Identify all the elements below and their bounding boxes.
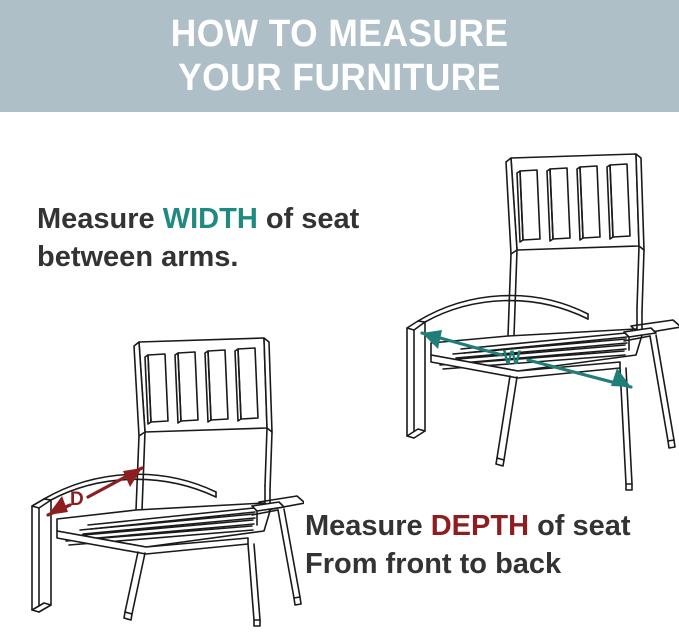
depth-dimension-arrow: D <box>48 468 142 515</box>
infographic-page: HOW TO MEASURE YOUR FURNITURE Measure WI… <box>0 0 679 642</box>
depth-caption-line-2: From front to back <box>305 545 631 583</box>
width-caption-line-2: between arms. <box>37 238 359 276</box>
width-caption-text-a: Measure <box>37 203 163 235</box>
chair-back-frame <box>134 338 272 436</box>
width-caption-text-b: of seat <box>258 203 360 235</box>
header-title-line-1: HOW TO MEASURE <box>171 12 509 56</box>
chair-illustration-width: W <box>398 136 679 506</box>
width-caption-line-1: Measure WIDTH of seat <box>37 200 359 238</box>
header-banner: HOW TO MEASURE YOUR FURNITURE <box>0 0 679 112</box>
depth-arrow-head-upper-right <box>123 468 142 487</box>
chair-back-posts <box>136 428 272 510</box>
chair-seat <box>431 329 642 378</box>
width-keyword: WIDTH <box>163 203 258 235</box>
depth-keyword: DEPTH <box>431 510 529 542</box>
width-dimension-label: W <box>503 348 521 369</box>
chair-seat <box>57 503 270 554</box>
chair-back-posts <box>508 246 644 336</box>
depth-caption: Measure DEPTH of seat From front to back <box>305 507 631 583</box>
header-title-line-2: YOUR FURNITURE <box>178 56 501 100</box>
depth-dimension-label: D <box>70 489 84 510</box>
chair-back-frame <box>506 154 644 254</box>
chair-illustration-depth: D <box>22 320 304 640</box>
depth-caption-line-1: Measure DEPTH of seat <box>305 507 631 545</box>
width-caption: Measure WIDTH of seat between arms. <box>37 200 359 276</box>
width-arrow-head-right <box>611 368 631 387</box>
depth-caption-text-b: of seat <box>529 510 631 542</box>
depth-caption-text-a: Measure <box>305 510 431 542</box>
